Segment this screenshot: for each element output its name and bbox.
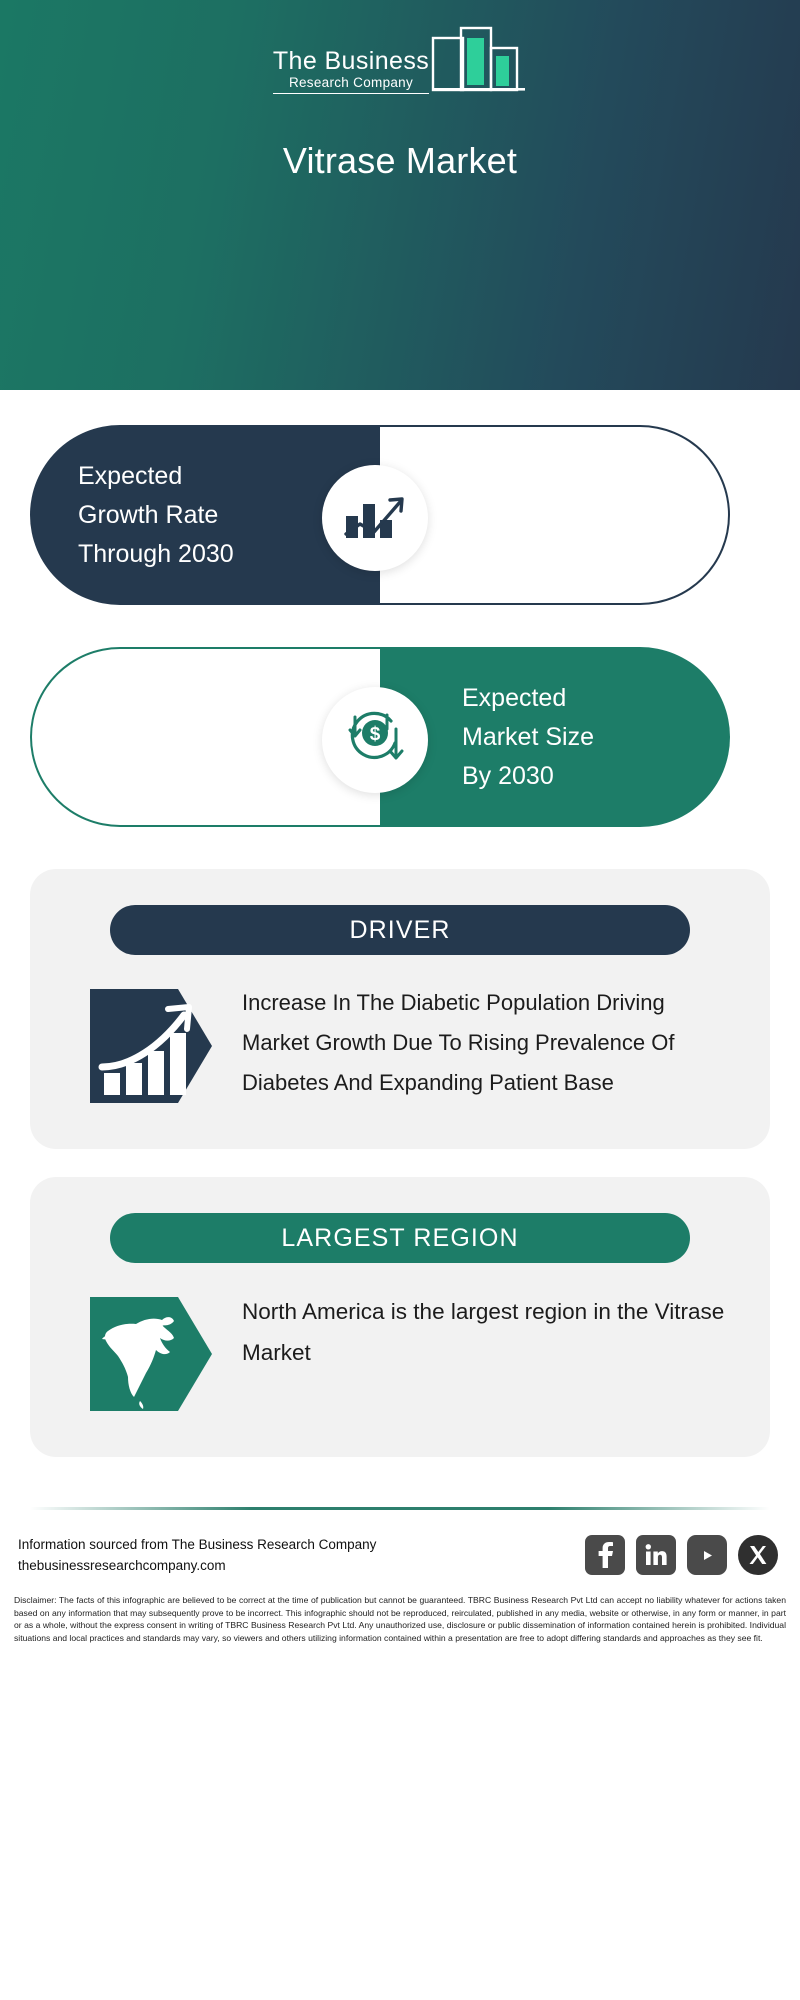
north-america-map-icon	[86, 1289, 216, 1419]
source-line-1: Information sourced from The Business Re…	[18, 1534, 376, 1555]
header-banner: The Business Research Company Vitrase Ma…	[0, 0, 800, 390]
page-title: Vitrase Market	[0, 140, 800, 182]
driver-heading: DRIVER	[110, 905, 690, 955]
youtube-icon[interactable]	[687, 1535, 727, 1575]
largest-region-text: North America is the largest region in t…	[242, 1289, 730, 1373]
logo-line-1: The Business	[273, 47, 429, 75]
dollar-circular-arrows-icon: $	[322, 687, 428, 793]
stat-label-line-1: Expected	[78, 457, 234, 496]
stat-label-line-2: Market Size	[462, 718, 594, 757]
driver-text: Increase In The Diabetic Population Driv…	[242, 981, 730, 1103]
infographic-page: The Business Research Company Vitrase Ma…	[0, 0, 800, 2000]
footer: Information sourced from The Business Re…	[0, 1497, 800, 1644]
x-twitter-icon[interactable]	[738, 1535, 778, 1575]
rising-bar-chart-arrow-icon	[86, 981, 216, 1111]
stat-card-market-size: Expected Market Size By 2030 $	[0, 647, 800, 847]
source-attribution: Information sourced from The Business Re…	[18, 1534, 376, 1576]
stat-label-line-1: Expected	[462, 679, 594, 718]
linkedin-icon[interactable]	[636, 1535, 676, 1575]
bar-chart-logo-mark	[431, 26, 527, 96]
driver-panel: DRIVER Increase In The Diabetic Populati…	[30, 869, 770, 1149]
stat-card-growth-rate: Expected Growth Rate Through 2030	[0, 425, 800, 625]
stat-label-line-2: Growth Rate	[78, 496, 234, 535]
growth-bar-chart-arrow-icon	[322, 465, 428, 571]
stat-label-line-3: By 2030	[462, 757, 594, 796]
stat-cards: Expected Growth Rate Through 2030	[0, 425, 800, 847]
largest-region-panel: LARGEST REGION North America is the larg…	[30, 1177, 770, 1457]
source-line-2[interactable]: thebusinessresearchcompany.com	[18, 1555, 376, 1576]
company-logo: The Business Research Company	[0, 26, 800, 96]
stat-label-panel: Expected Market Size By 2030	[380, 647, 730, 827]
stat-value-panel	[380, 425, 730, 605]
disclaimer-text: Disclaimer: The facts of this infographi…	[0, 1584, 800, 1644]
stat-label-line-3: Through 2030	[78, 535, 234, 574]
logo-line-2: Research Company	[273, 75, 429, 94]
largest-region-heading: LARGEST REGION	[110, 1213, 690, 1263]
social-links	[585, 1535, 778, 1575]
svg-text:$: $	[370, 724, 381, 745]
facebook-icon[interactable]	[585, 1535, 625, 1575]
